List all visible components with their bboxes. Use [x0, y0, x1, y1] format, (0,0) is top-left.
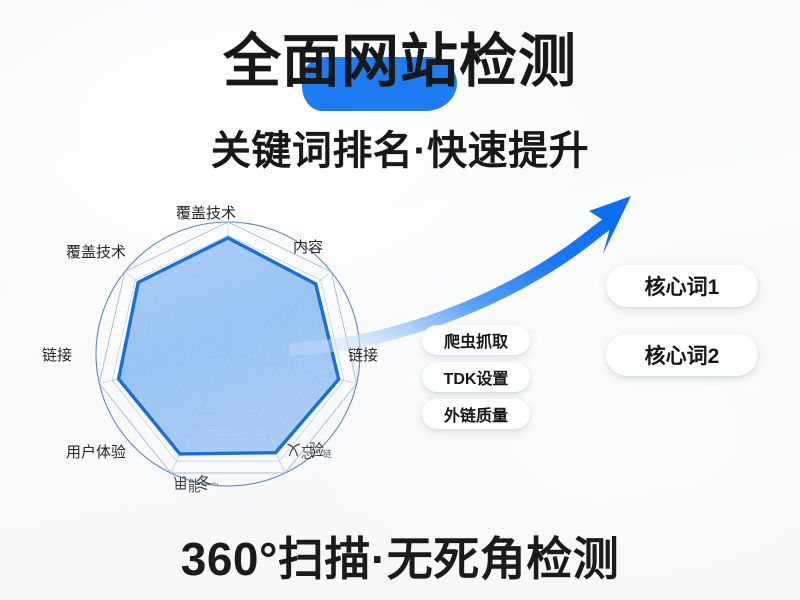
- audit-pill-tdk[interactable]: TDK设置: [422, 362, 530, 392]
- radar-axis-label-top: 覆盖技术: [176, 202, 236, 223]
- radar-axis-label-upper-left: 覆盖技术: [66, 241, 126, 262]
- footer-tagline: 360°扫描·无死角检测: [0, 523, 800, 589]
- radar-axis-label-upper-right: 内容: [293, 236, 323, 257]
- radar-axis-label-right: 链接: [348, 344, 378, 365]
- radar-chart: 覆盖技术 内容 链接 乂忘验链 用能冬宀 用户体验 链接 覆盖技术: [48, 196, 408, 512]
- title-text: 全面网站检测: [223, 29, 577, 94]
- radar-axis-label-lower-right: 乂忘验链: [286, 440, 342, 461]
- poster-background: 全面网站检测 关键词排名·快速提升 覆盖技术 内容 链接 乂忘验链 用能冬宀: [0, 0, 800, 600]
- radar-axis-label-lower-left: 用户体验: [66, 441, 126, 462]
- page-title: 全面网站检测: [0, 33, 800, 107]
- keyword-pill-2[interactable]: 核心词2: [606, 334, 758, 376]
- audit-pill-backlink[interactable]: 外链质量: [422, 399, 530, 429]
- radar-data-polygon: [119, 238, 339, 454]
- page-subtitle: 关键词排名·快速提升: [0, 118, 800, 176]
- radar-axis-label-bottom: 用能冬宀: [173, 473, 229, 494]
- audit-pill-crawl[interactable]: 爬虫抓取: [422, 325, 530, 355]
- keyword-pill-1[interactable]: 核心词1: [606, 265, 758, 307]
- radar-axis-label-left: 链接: [42, 344, 72, 365]
